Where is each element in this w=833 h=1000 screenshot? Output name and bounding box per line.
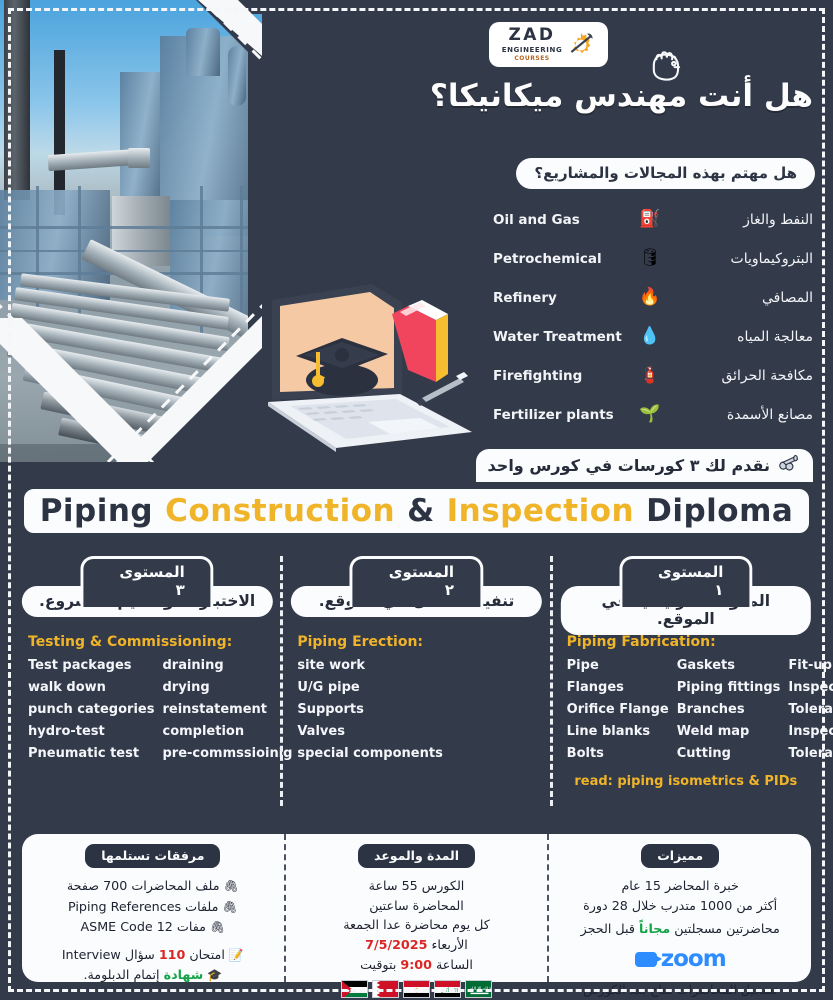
features-badge: مميزات [641, 844, 719, 868]
paperclip-icon: 🖇 [222, 900, 237, 914]
diploma-word: Piping [40, 493, 153, 529]
schedule-line: الساعة 9:00 بتوقيت [294, 955, 540, 975]
feature-line: خبرة المحاضر 15 عام [557, 876, 803, 896]
level-item: punch categories [28, 702, 154, 717]
field-label-en: Petrochemical [469, 251, 629, 267]
level-item: hydro-test [28, 724, 154, 739]
level-item: Fit-up [788, 658, 833, 673]
schedule-badge: المدة والموعد [358, 844, 475, 868]
level-item: special components [297, 746, 442, 761]
level-item: Valves [297, 724, 442, 739]
paperclip-icon: 🖇 [210, 920, 225, 934]
level-item: Supports [297, 702, 442, 717]
field-label-ar: مصانع الأسمدة [671, 407, 819, 423]
level-item: Flanges [567, 680, 669, 695]
refinery-photo [0, 0, 262, 462]
footer-schedule: المدة والموعد الكورس 55 ساعةالمحاضرة ساع… [284, 834, 548, 982]
level-item: Pipe [567, 658, 669, 673]
field-label-ar: البتروكيماويات [671, 251, 819, 267]
level-item: drying [162, 680, 292, 695]
flag-iraq: الله أكبر [434, 980, 461, 998]
attachment-item: 📝 امتحان 110 سؤال Interview [30, 945, 276, 966]
level-item: Tolerance [788, 702, 833, 717]
country-flags: ★❈الله أكبرلا اله الا الله [286, 980, 548, 998]
flag-bahrain [372, 980, 399, 998]
schedule-line: الكورس 55 ساعة [294, 876, 540, 896]
field-label-ar: معالجة المياه [671, 329, 819, 345]
field-row: Fertilizer plants🌱مصانع الأسمدة [469, 395, 819, 434]
level-item: Inspection [788, 680, 833, 695]
level-column: PipeFlangesOrifice FlangeLine blanksBolt… [567, 658, 669, 761]
feature-line: أكثر من 1000 متدرب خلال 28 دورة [557, 896, 803, 916]
level-item: site work [297, 658, 442, 673]
field-label-en: Fertilizer plants [469, 407, 629, 423]
flag-saudi-arabia: لا اله الا الله [465, 980, 492, 998]
level-badge: المستوى ٢ [350, 556, 483, 607]
refinery-flare-icon: 🔥 [629, 289, 671, 306]
offer-pill: نقدم لك ٣ كورسات في كورس واحد [474, 447, 815, 482]
level-column: Fit-upInspectionToleranceInspectionToler… [788, 658, 833, 761]
svg-text:❈: ❈ [414, 988, 419, 995]
paperclip-icon: 🖇 [224, 879, 239, 893]
field-label-en: Water Treatment [469, 329, 629, 345]
zoom-logo: zoom [557, 942, 803, 978]
poster-root: ZAD ENGINEERING COURSES [0, 0, 833, 1000]
field-row: Refinery🔥المصافي [469, 278, 819, 317]
levels-section: المستوى ٣الاختبارات وتسليم المشروع.Testi… [14, 556, 819, 806]
video-camera-icon [635, 952, 657, 967]
level-item: U/G pipe [297, 680, 442, 695]
level-item: Piping fittings [677, 680, 781, 695]
feature-line: محاضرتين مسجلتين مجاناً قبل الحجز [557, 919, 803, 939]
fire-extinguisher-icon: 🧯 [629, 367, 671, 384]
diploma-title-banner: PipingConstruction&InspectionDiploma [22, 487, 811, 535]
field-row: Water Treatment💧معالجة المياه [469, 317, 819, 356]
logo-subtitle: ENGINEERING [502, 47, 563, 54]
level-column: Test packageswalk downpunch categorieshy… [28, 658, 154, 761]
oil-gas-icon: ⛽ [629, 211, 671, 228]
footer-attachments: مرفقات تستلمها 🖇 ملف المحاضرات 700 صفحة🖇… [22, 834, 284, 982]
level-column: drainingdryingreinstatementcompletionpre… [162, 658, 292, 761]
level-item: Test packages [28, 658, 154, 673]
diploma-word: & [407, 493, 435, 529]
zoom-wordmark: zoom [661, 942, 726, 978]
diploma-word: Inspection [447, 493, 634, 529]
level-item: Tolerance [788, 746, 833, 761]
level-item: Line blanks [567, 724, 669, 739]
level-panel-1: المستوى ١المكونات الرئيسية في الموقع.Pip… [550, 556, 819, 806]
field-row: Firefighting🧯مكافحة الحرائق [469, 356, 819, 395]
fields-list: Oil and Gas⛽النفط والغازPetrochemical🛢ال… [469, 200, 819, 434]
logo-wordmark: ZAD [508, 27, 555, 44]
field-label-ar: النفط والغاز [671, 212, 819, 228]
attachment-item: 🖇 مفات ASME Code 12 [30, 917, 276, 938]
flag-egypt: ❈ [403, 980, 430, 998]
level-item: Branches [677, 702, 781, 717]
svg-text:لا اله الا الله: لا اله الا الله [470, 987, 492, 992]
pipe-bundle-icon [778, 454, 799, 476]
level-item: Orifice Flange [567, 702, 669, 717]
field-label-ar: مكافحة الحرائق [671, 368, 819, 384]
subtitle-pill: هل مهتم بهذه المجالات والمشاريع؟ [516, 158, 815, 189]
brand-logo: ZAD ENGINEERING COURSES [489, 22, 608, 67]
field-label-en: Firefighting [469, 368, 629, 384]
level-item: Inspection [788, 724, 833, 739]
level-item: reinstatement [162, 702, 292, 717]
offer-text: نقدم لك ٣ كورسات في كورس واحد [488, 456, 770, 475]
svg-text:★: ★ [346, 989, 351, 995]
level-badge: المستوى ٣ [81, 556, 214, 607]
level-column: site workU/G pipeSupportsValvesspecial c… [297, 658, 442, 761]
schedule-line: الأربعاء 7/5/2025 [294, 935, 540, 955]
exam-icon: 📝 [229, 948, 244, 962]
attachments-badge: مرفقات تستلمها [85, 844, 220, 868]
level-heading: Piping Erection: [297, 634, 423, 650]
flag-jordan: ★ [341, 980, 368, 998]
level-item: draining [162, 658, 292, 673]
level-column: GasketsPiping fittingsBranchesWeld mapCu… [677, 658, 781, 761]
level-item: Bolts [567, 746, 669, 761]
fertilizer-plant-icon: 🌱 [629, 406, 671, 423]
field-label-en: Refinery [469, 290, 629, 306]
field-row: Oil and Gas⛽النفط والغاز [469, 200, 819, 239]
schedule-line: المحاضرة ساعتين [294, 896, 540, 916]
footer-features: مميزات خبرة المحاضر 15 عامأكثر من 1000 م… [547, 834, 811, 982]
level-item: Gaskets [677, 658, 781, 673]
level-heading: Piping Fabrication: [567, 634, 716, 650]
gear-icon [567, 31, 595, 59]
level-panel-3: المستوى ٣الاختبارات وتسليم المشروع.Testi… [14, 556, 280, 806]
level-item: walk down [28, 680, 154, 695]
water-tank-icon: 💧 [629, 328, 671, 345]
schedule-line: كل يوم محاضرة عدا الجمعة [294, 915, 540, 935]
feature-line: تسجيل المحاضرات متاح بعد الكورس [557, 980, 803, 1000]
elearning-illustration [250, 282, 475, 452]
level-panel-2: المستوى ٢تنفيذ الأعمال في الموقع.Piping … [280, 556, 549, 806]
field-label-en: Oil and Gas [469, 212, 629, 228]
certificate-icon: 🎓 [207, 968, 222, 982]
svg-text:الله أكبر: الله أكبر [440, 987, 458, 994]
level-item: Weld map [677, 724, 781, 739]
attachment-item: 🖇 ملفات Piping References [30, 897, 276, 918]
attachment-item: 🎓 شهادة إتمام الدبلومة. [30, 965, 276, 986]
pumpjack-icon: 🛢 [629, 250, 671, 267]
level-item: Pneumatic test [28, 746, 154, 761]
logo-subtitle-2: COURSES [514, 56, 549, 62]
level-item: completion [162, 724, 292, 739]
diploma-word: Construction [165, 493, 395, 529]
diploma-word: Diploma [646, 493, 793, 529]
level-item: Cutting [677, 746, 781, 761]
page-title: هل أنت مهندس ميكانيكا؟ [430, 78, 813, 114]
level-note: read: piping isometrics & PIDs [553, 774, 819, 789]
level-heading: Testing & Commissioning: [28, 634, 232, 650]
field-label-ar: المصافي [671, 290, 819, 306]
level-badge: المستوى ١ [619, 556, 752, 607]
field-row: Petrochemical🛢البتروكيماويات [469, 239, 819, 278]
footer-card: مرفقات تستلمها 🖇 ملف المحاضرات 700 صفحة🖇… [22, 834, 811, 982]
attachment-item: 🖇 ملف المحاضرات 700 صفحة [30, 876, 276, 897]
level-item: pre-commssioinig [162, 746, 292, 761]
